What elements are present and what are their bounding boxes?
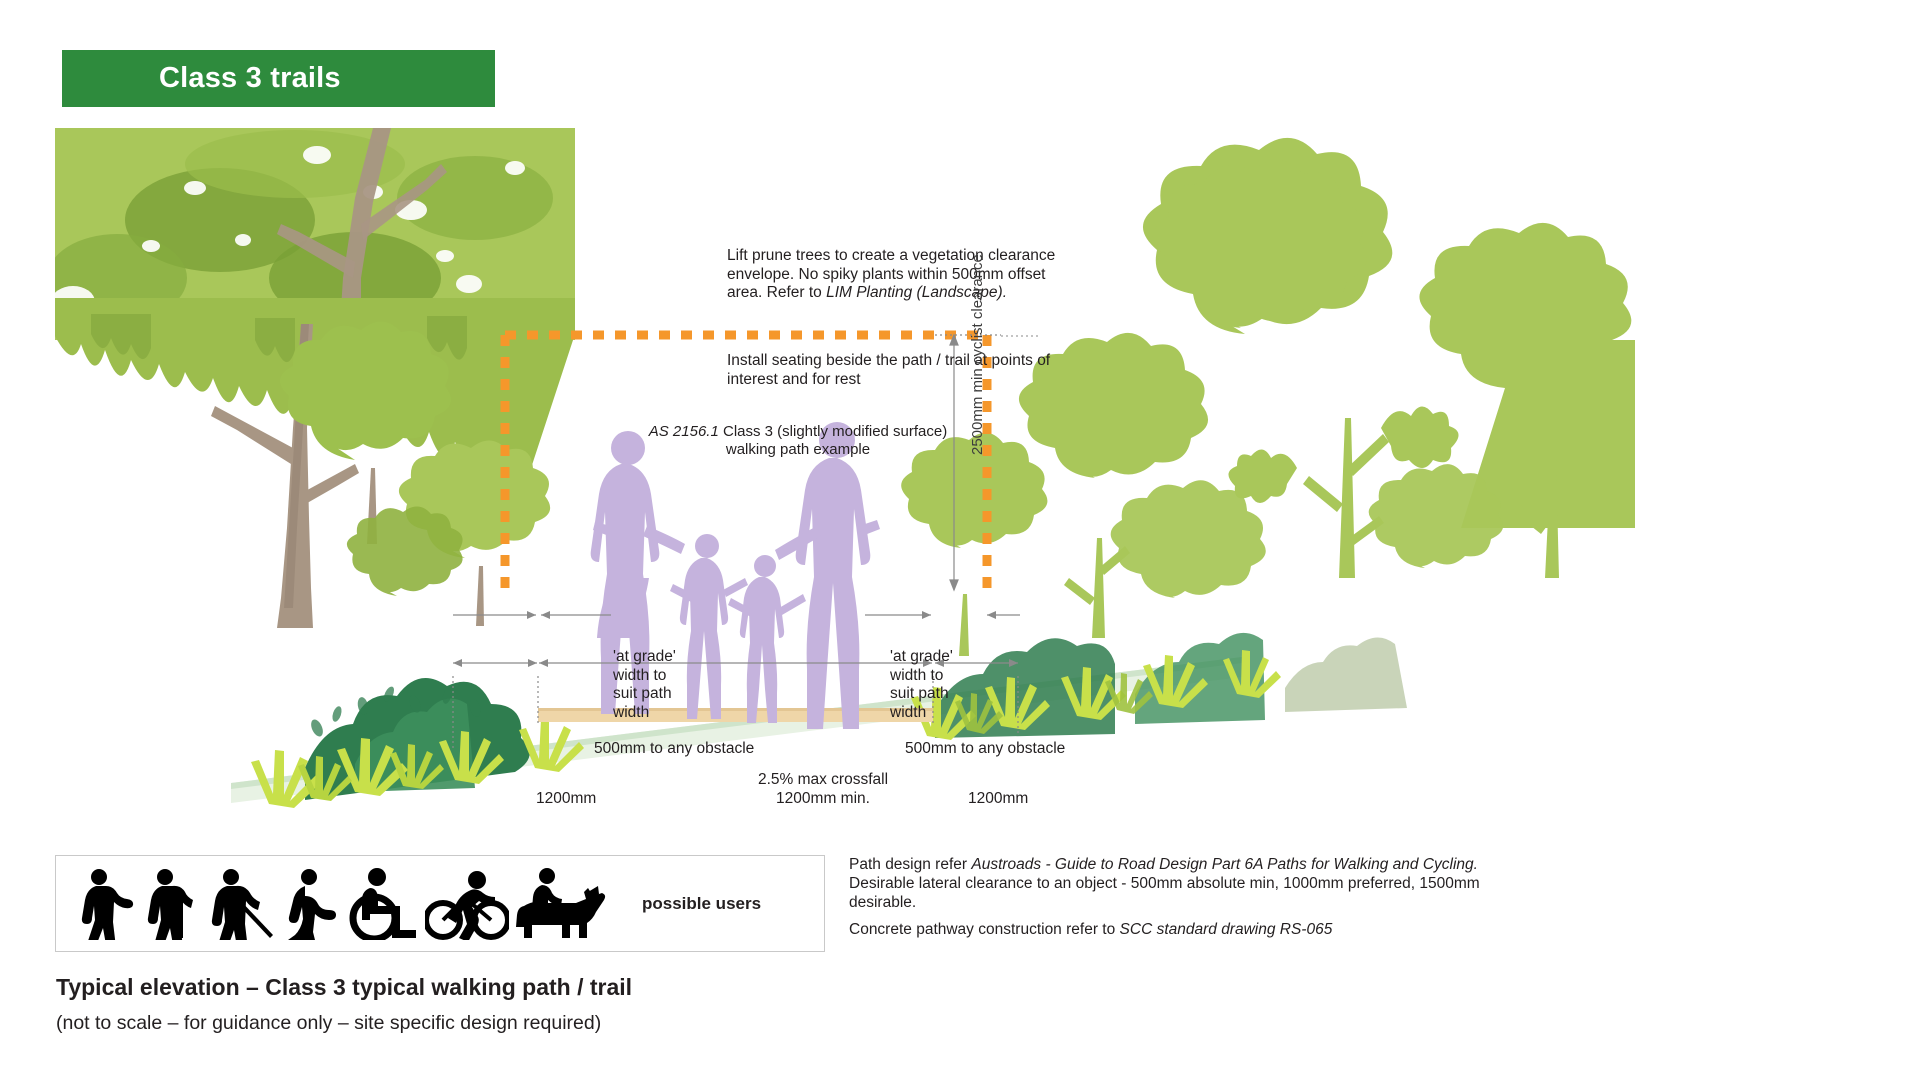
envelope-standard-label: AS 2156.1 Class 3 (slightly modified sur… [633,423,963,459]
envelope-standard-desc: Class 3 (slightly modified surface) walk… [719,423,947,458]
elevation-illustration [55,128,1635,818]
figure-adult-man [775,422,880,729]
reference-note-scc-citation: SCC standard drawing RS-065 [1120,921,1333,938]
vertical-clearance-label: 2500mm min cyclist clearance [969,254,986,455]
right-understory-planting [911,633,1407,740]
reference-note-path-design: Path design refer Austroads - Guide to R… [849,855,1521,912]
dim-label-offset-right: 500mm to any obstacle [905,740,1065,758]
dim-label-crossfall: 2.5% max crossfall 1200mm min. [728,770,918,808]
at-grade-label-left: 'at grade' width to suit path width [613,648,691,722]
dim-label-shoulder-right: 1200mm [968,790,1028,808]
horse-rider-icon [514,868,606,940]
at-grade-label-right: 'at grade' width to suit path width [890,648,970,722]
envelope-standard-code: AS 2156.1 [649,423,719,440]
running-person-icon [279,868,341,940]
drawing-sheet: Class 3 trails [0,0,1920,1080]
annotation-install-seating: Install seating beside the path / trail … [727,352,1057,389]
possible-users-label: possible users [642,894,761,914]
possible-users-icon-strip [56,868,606,940]
blind-person-with-white-cane-icon [206,868,274,940]
reference-note-concrete-pathway: Concrete pathway construction refer to S… [849,920,1521,939]
dim-crossfall-line2: 1200mm min. [776,790,870,807]
walking-person-icon [72,868,134,940]
cyclist-icon [425,868,509,940]
page-title: Class 3 trails [62,62,341,95]
dim-label-offset-left: 500mm to any obstacle [594,740,754,758]
figure-child-boy [728,555,806,723]
person-with-cane-icon [139,868,201,940]
figure-subtitle: (not to scale – for guidance only – site… [56,1012,601,1035]
path-surface [538,708,933,722]
dim-label-shoulder-left: 1200mm [536,790,596,808]
figure-title: Typical elevation – Class 3 typical walk… [56,974,632,1001]
reference-note-austroads-citation: Austroads - Guide to Road Design Part 6A… [971,856,1478,873]
wheelchair-user-icon [346,868,420,940]
annotation-lift-prune: Lift prune trees to create a vegetation … [727,247,1077,303]
page-title-banner: Class 3 trails [62,50,495,107]
left-understory-tree-c [347,506,463,596]
dim-crossfall-line1: 2.5% max crossfall [758,771,888,788]
possible-users-panel: possible users [55,855,825,952]
right-tree-cluster [901,138,1635,656]
